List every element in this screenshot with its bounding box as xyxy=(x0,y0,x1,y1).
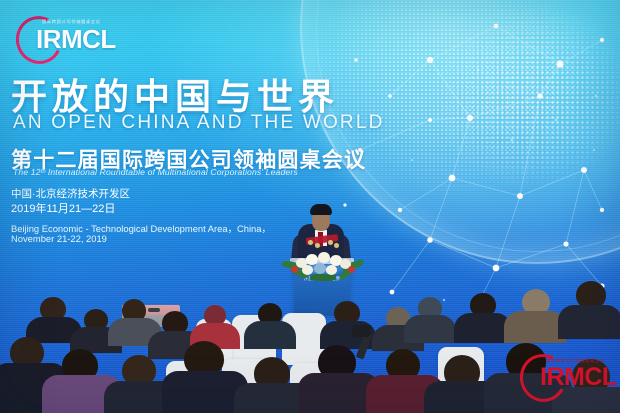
headline-english: AN OPEN CHINA AND THE WORLD xyxy=(13,112,385,134)
camera-body xyxy=(352,325,370,337)
watermark-wordmark: IRMCL xyxy=(540,363,617,392)
date-chinese: 2019年11月21—22日 xyxy=(11,200,115,216)
subtitle-english: The 12ᵗʰ International Roundtable of Mul… xyxy=(13,167,298,177)
speaker-cap xyxy=(310,204,332,215)
speaker-medal xyxy=(308,240,313,245)
date-english: November 21-22, 2019 xyxy=(11,233,107,244)
watermark-logo: 国际跨国公司领袖圆桌会议 IRMCL xyxy=(512,352,616,404)
event-logo: 国际跨国公司领袖圆桌会议 IRMCL xyxy=(12,14,130,62)
location-chinese: 中国·北京经济技术开发区 xyxy=(11,186,130,201)
speaker-medal xyxy=(328,240,333,245)
conference-photo: 国际跨国公司领袖圆桌会议 IRMCL 开放的中国与世界 AN OPEN CHIN… xyxy=(0,0,620,413)
logo-wordmark: IRMCL xyxy=(36,24,116,55)
